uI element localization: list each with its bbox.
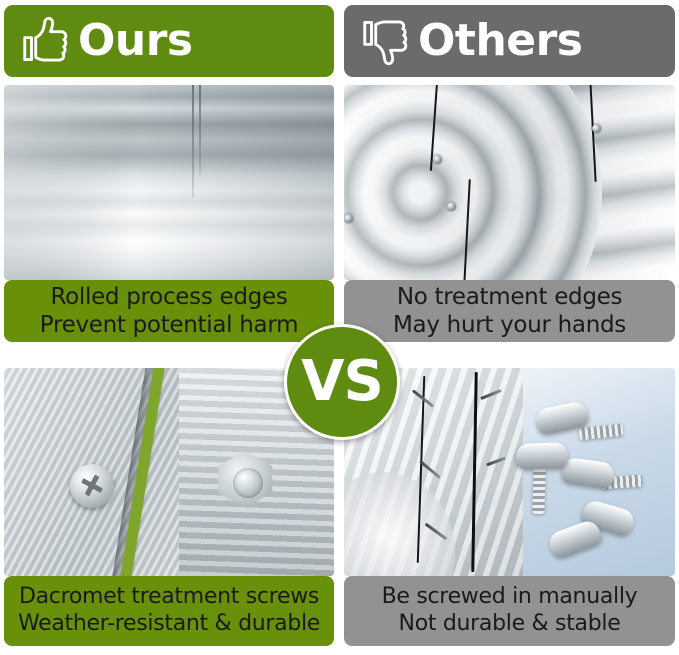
photo-dacromet-screws xyxy=(4,368,334,576)
header-label-ours: Ours xyxy=(78,19,193,63)
metal-rolled-texture xyxy=(4,85,334,280)
panel-seam xyxy=(192,85,194,198)
caption-line: Prevent potential harm xyxy=(40,311,298,339)
screw-panel-texture xyxy=(4,368,334,576)
wing-bolt-shank xyxy=(532,468,546,514)
vs-label: VS xyxy=(301,354,383,410)
screw-hole xyxy=(447,202,456,211)
bolt-shank xyxy=(233,468,263,498)
caption-rolled-edges: Rolled process edges Prevent potential h… xyxy=(4,280,334,342)
caption-line: Dacromet treatment screws xyxy=(19,584,319,611)
caption-dacromet-screws: Dacromet treatment screws Weather-resist… xyxy=(4,576,334,646)
header-banner-others: Others xyxy=(344,5,675,77)
comparison-infographic: Ours Others Rolled process edges Prevent… xyxy=(0,0,679,655)
vs-badge: VS xyxy=(284,324,400,440)
header-banner-ours: Ours xyxy=(4,5,334,77)
caption-line: Not durable & stable xyxy=(399,611,621,638)
header-label-others: Others xyxy=(418,19,583,63)
thumbs-up-icon xyxy=(18,14,72,68)
wing-bolt xyxy=(516,442,569,470)
caption-untreated-edges: No treatment edges May hurt your hands xyxy=(344,280,675,342)
metal-rings-texture xyxy=(344,85,675,280)
photo-rolled-edges xyxy=(4,85,334,280)
caption-line: Rolled process edges xyxy=(50,283,287,311)
photo-untreated-edges xyxy=(344,85,675,280)
caption-line: No treatment edges xyxy=(397,283,622,311)
caption-line: Be screwed in manually xyxy=(382,584,638,611)
caption-line: Weather-resistant & durable xyxy=(18,611,320,638)
phillips-screw-head xyxy=(70,464,114,508)
caption-manual-screws: Be screwed in manually Not durable & sta… xyxy=(344,576,675,646)
screw-hole xyxy=(344,214,353,223)
thumbs-down-icon xyxy=(358,14,412,68)
panel-seam xyxy=(199,85,201,175)
caption-line: May hurt your hands xyxy=(393,311,626,339)
